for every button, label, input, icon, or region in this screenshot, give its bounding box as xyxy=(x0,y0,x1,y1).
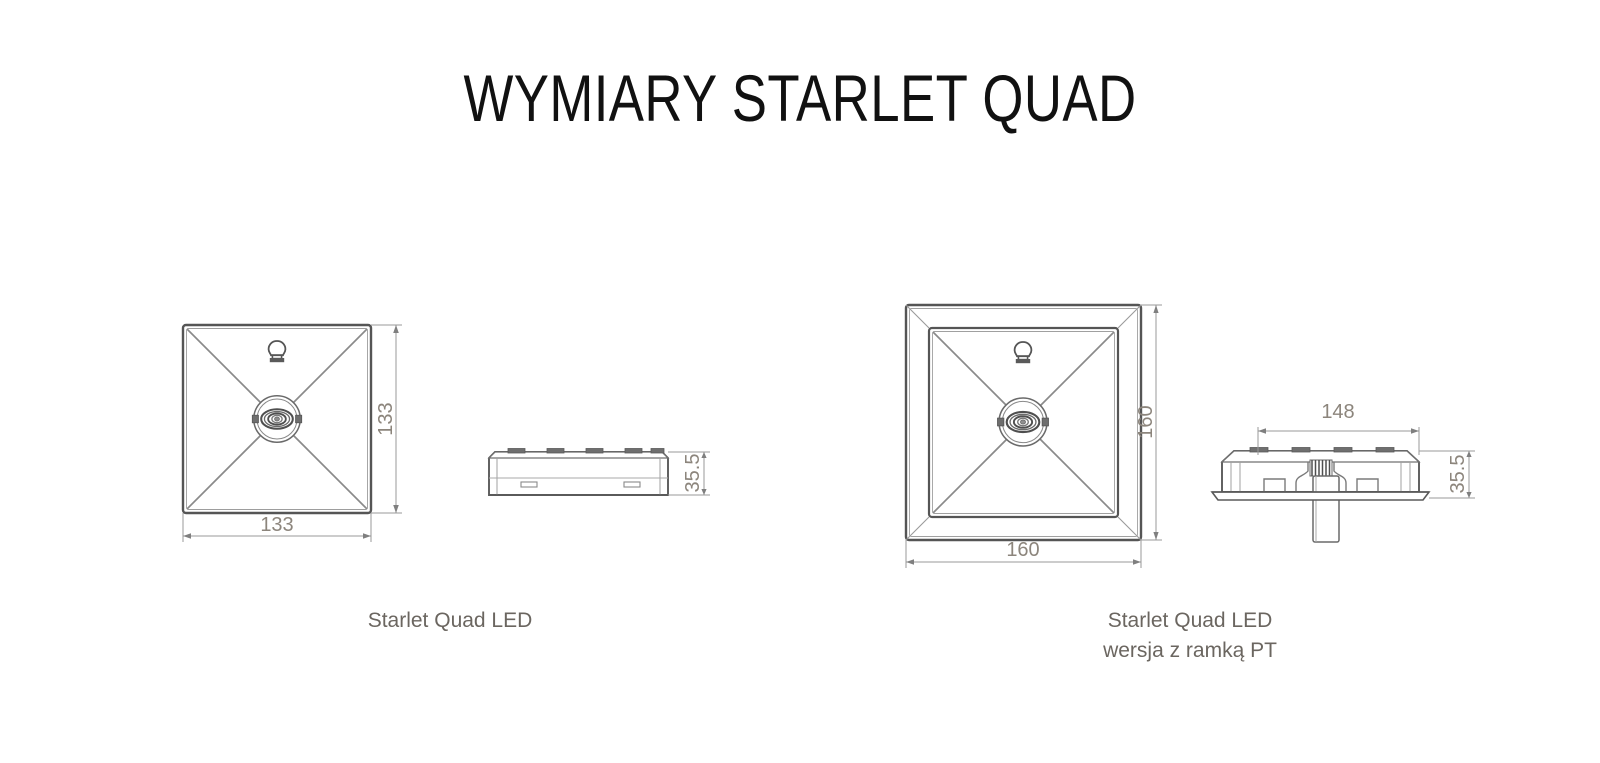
dimension-right-side-height: 35.5 xyxy=(1419,451,1475,498)
caption-left: Starlet Quad LED xyxy=(250,606,650,636)
caption-left-line1: Starlet Quad LED xyxy=(250,606,650,636)
dimension-left-side-height: 35.5 xyxy=(668,452,710,495)
dimension-value: 160 xyxy=(1006,539,1039,561)
dimension-right-side-width: 148 xyxy=(1258,401,1419,455)
sensor-icon xyxy=(252,396,301,443)
caption-right: Starlet Quad LED wersja z ramką PT xyxy=(990,606,1390,666)
dimension-left-plan-height: 133 xyxy=(371,325,402,513)
plan-view-pt-frame xyxy=(906,305,1141,540)
dimension-right-plan-width: 160 xyxy=(906,539,1141,568)
dimension-value: 35.5 xyxy=(682,454,704,493)
dimension-left-plan-width: 133 xyxy=(183,513,371,542)
plan-view-standard xyxy=(183,325,371,513)
sensor-icon xyxy=(998,398,1049,446)
caption-right-line1: Starlet Quad LED xyxy=(990,606,1390,636)
dimension-value: 133 xyxy=(375,402,397,435)
mounting-flange xyxy=(1212,492,1429,500)
dimension-value: 160 xyxy=(1135,405,1157,438)
caption-right-line2: wersja z ramką PT xyxy=(990,636,1390,666)
dimension-value: 35.5 xyxy=(1447,455,1469,494)
side-view-pt-frame xyxy=(1212,448,1429,543)
dimension-value: 133 xyxy=(260,514,293,536)
dimension-value: 148 xyxy=(1321,401,1354,423)
spring-icon xyxy=(1310,460,1332,476)
side-view-standard xyxy=(489,449,668,496)
driver-box xyxy=(1313,476,1339,542)
